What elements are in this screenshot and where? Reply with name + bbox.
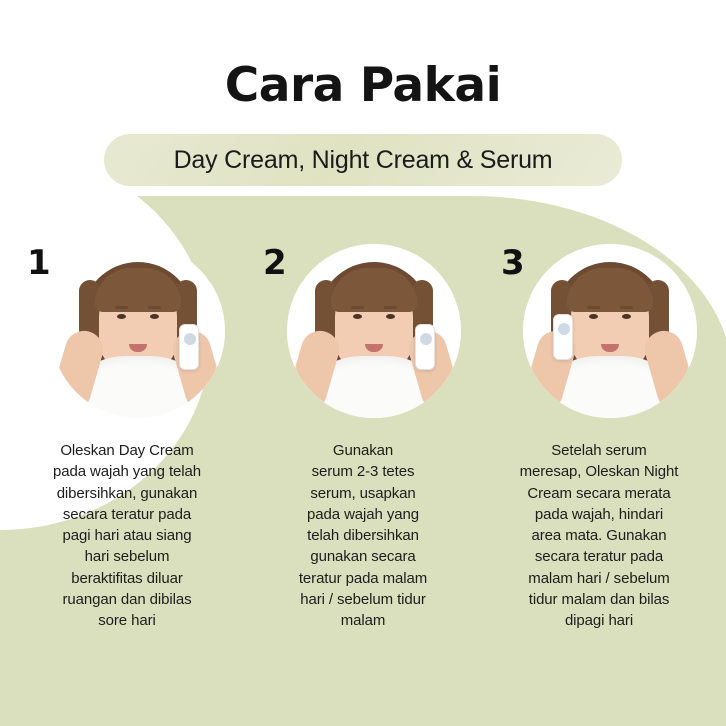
step-description: Setelah serum meresap, Oleskan Night Cre… — [491, 440, 707, 632]
step-description: Oleskan Day Cream pada wajah yang telah … — [19, 440, 235, 632]
woman-portrait-image — [287, 244, 461, 418]
step-item: 2 — [255, 238, 471, 632]
step-photo-circle — [287, 244, 461, 418]
step-header: 1 — [19, 238, 235, 426]
woman-portrait-image — [523, 244, 697, 418]
subtitle-pill-label: Day Cream, Night Cream & Serum — [174, 146, 553, 175]
step-item: 3 — [491, 238, 707, 632]
step-number: 2 — [263, 246, 287, 280]
subtitle-pill: Day Cream, Night Cream & Serum — [104, 134, 622, 186]
step-header: 2 — [255, 238, 471, 426]
step-photo-circle — [51, 244, 225, 418]
step-item: 1 — [19, 238, 235, 632]
page-title: Cara Pakai — [0, 58, 726, 113]
poster-canvas: Cara Pakai Day Cream, Night Cream & Seru… — [0, 0, 726, 726]
step-description: Gunakan serum 2-3 tetes serum, usapkan p… — [255, 440, 471, 632]
step-number: 1 — [27, 246, 51, 280]
step-number: 3 — [501, 246, 525, 280]
step-header: 3 — [491, 238, 707, 426]
step-photo-circle — [523, 244, 697, 418]
serum-bottle-icon — [415, 324, 435, 370]
woman-portrait-image — [51, 244, 225, 418]
night-cream-bottle-icon — [553, 314, 573, 360]
steps-row: 1 — [0, 238, 726, 632]
day-cream-bottle-icon — [179, 324, 199, 370]
